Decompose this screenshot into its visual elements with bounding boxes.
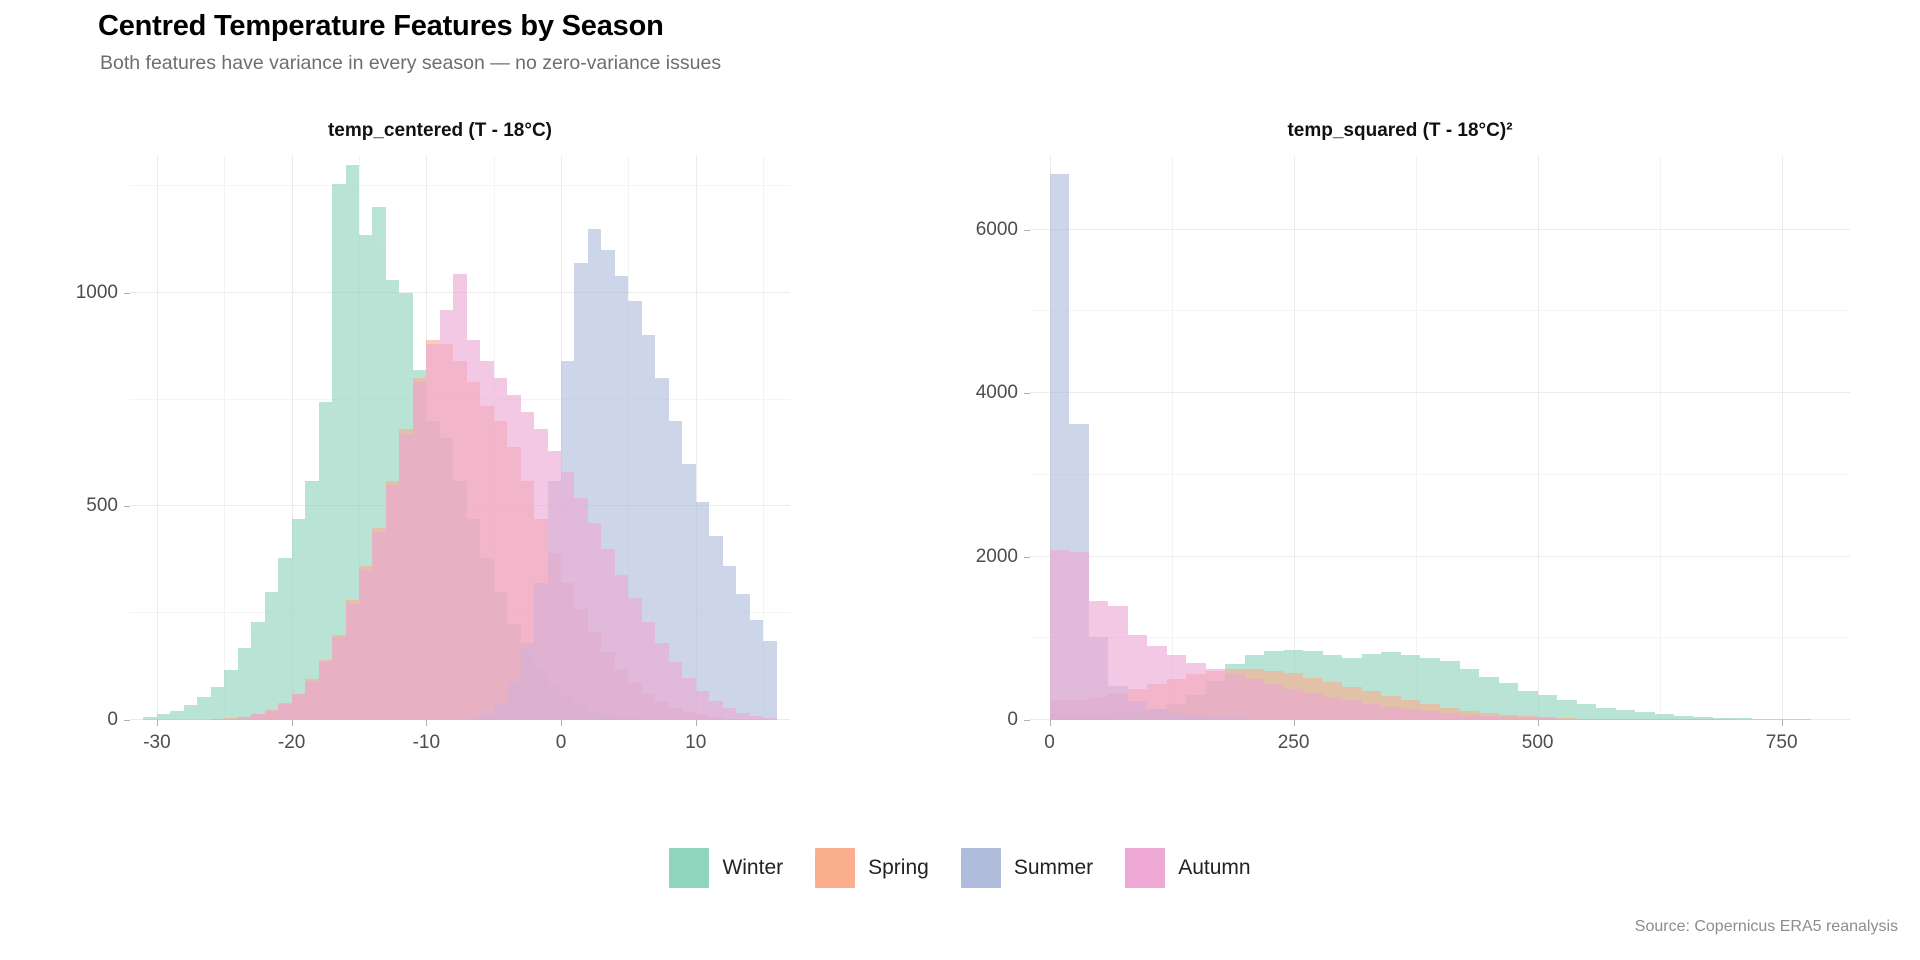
- histogram-bar: [709, 701, 722, 720]
- histogram-bar: [1518, 718, 1538, 720]
- histogram-bar: [1206, 669, 1226, 720]
- x-tick-label: 10: [685, 732, 706, 754]
- histogram-bar: [723, 708, 736, 720]
- histogram-bar: [238, 717, 251, 720]
- histogram-bar: [1284, 689, 1304, 720]
- legend-item-winter[interactable]: Winter: [669, 848, 783, 888]
- facet-title-left: temp_centered (T - 18°C): [60, 120, 820, 142]
- histogram-bar: [453, 274, 466, 721]
- x-tick-mark: [157, 720, 158, 726]
- histogram-bar: [1616, 719, 1636, 720]
- legend-item-autumn[interactable]: Autumn: [1125, 848, 1250, 888]
- x-tick-label: 250: [1278, 732, 1310, 754]
- histogram-bar: [588, 523, 601, 720]
- histogram-bar: [426, 344, 439, 720]
- histogram-bar: [467, 340, 480, 720]
- histogram-bar: [1342, 700, 1362, 720]
- y-tick-label: 4000: [976, 382, 1018, 404]
- histogram-bar: [682, 678, 695, 720]
- y-tick-label: 1000: [76, 282, 118, 304]
- plot-area-right: [1030, 156, 1850, 720]
- histogram-bar: [372, 532, 385, 720]
- legend-label: Autumn: [1178, 856, 1250, 880]
- legend-label: Winter: [722, 856, 783, 880]
- legend-swatch-summer: [961, 848, 1001, 888]
- histogram-bar: [655, 643, 668, 720]
- y-axis-title: Count: [0, 385, 3, 415]
- x-tick-label: -20: [278, 732, 305, 754]
- histogram-bar: [1577, 719, 1597, 720]
- x-tick-mark: [696, 720, 697, 726]
- histogram-bar: [521, 412, 534, 720]
- legend-swatch-autumn: [1125, 848, 1165, 888]
- x-tick-label: -10: [413, 732, 440, 754]
- histogram-bar: [1655, 719, 1675, 720]
- y-tick-label: 0: [107, 709, 118, 731]
- histogram-bar: [251, 714, 264, 720]
- histogram-bar: [1050, 550, 1070, 720]
- legend-swatch-spring: [815, 848, 855, 888]
- histogram-bar: [1694, 719, 1714, 720]
- histogram-bar: [1538, 718, 1558, 720]
- histogram-bar: [1460, 715, 1480, 720]
- y-tick-label: 0: [1007, 709, 1018, 731]
- histogram-bar: [615, 575, 628, 720]
- histogram-bar: [1225, 674, 1245, 720]
- facet-title-right: temp_squared (T - 18°C)²: [900, 120, 1900, 142]
- histogram-bar: [1557, 719, 1577, 720]
- plot-area-left: [130, 156, 790, 720]
- y-tick-label: 500: [86, 495, 118, 517]
- histogram-bar: [1167, 655, 1187, 720]
- legend-label: Summer: [1014, 856, 1093, 880]
- x-tick-label: 0: [1044, 732, 1055, 754]
- histogram-bar: [696, 691, 709, 720]
- histogram-bar: [386, 485, 399, 720]
- histogram-bar: [1635, 719, 1655, 720]
- y-tick-label: 2000: [976, 546, 1018, 568]
- histogram-bar: [332, 637, 345, 720]
- histogram-series-autumn: [1030, 156, 1850, 720]
- histogram-bar: [440, 310, 453, 720]
- histogram-series-autumn: [130, 156, 790, 720]
- histogram-bar: [1596, 719, 1616, 720]
- histogram-bar: [1069, 552, 1089, 720]
- histogram-bar: [642, 622, 655, 720]
- histogram-bar: [1147, 646, 1167, 720]
- histogram-bar: [1499, 717, 1519, 720]
- chart-root: Centred Temperature Features by Season B…: [0, 0, 1920, 960]
- x-tick-label: 500: [1522, 732, 1554, 754]
- x-tick-mark: [561, 720, 562, 726]
- histogram-bar: [1089, 601, 1109, 720]
- histogram-bar: [736, 713, 749, 720]
- histogram-bar: [292, 694, 305, 720]
- histogram-bar: [1108, 606, 1128, 720]
- facet-panel-temp-squared: temp_squared (T - 18°C)² 025050075002000…: [900, 120, 1900, 790]
- histogram-bar: [1186, 663, 1206, 720]
- histogram-bar: [1381, 707, 1401, 720]
- y-tick-mark: [124, 720, 130, 721]
- histogram-bar: [1245, 679, 1265, 720]
- histogram-bar: [1420, 711, 1440, 720]
- x-tick-label: 750: [1766, 732, 1798, 754]
- histogram-bar: [1674, 719, 1694, 720]
- y-tick-mark: [1024, 230, 1030, 231]
- y-tick-mark: [1024, 557, 1030, 558]
- y-tick-mark: [1024, 720, 1030, 721]
- histogram-bar: [346, 604, 359, 720]
- histogram-bar: [278, 704, 291, 720]
- histogram-bar: [574, 498, 587, 720]
- histogram-bar: [1303, 693, 1323, 720]
- histogram-bar: [211, 719, 224, 720]
- histogram-bar: [399, 434, 412, 720]
- y-tick-label: 6000: [976, 219, 1018, 241]
- histogram-bar: [750, 716, 763, 720]
- histogram-bar: [1323, 697, 1343, 720]
- histogram-bar: [413, 382, 426, 720]
- legend-item-summer[interactable]: Summer: [961, 848, 1093, 888]
- histogram-bar: [628, 598, 641, 720]
- x-tick-mark: [1538, 720, 1539, 726]
- histogram-bar: [359, 570, 372, 720]
- source-caption: Source: Copernicus ERA5 reanalysis: [1635, 918, 1898, 936]
- x-tick-mark: [426, 720, 427, 726]
- histogram-bar: [1401, 709, 1421, 720]
- histogram-bar: [319, 662, 332, 720]
- legend: WinterSpringSummerAutumn: [0, 848, 1920, 888]
- histogram-bar: [669, 662, 682, 720]
- histogram-bar: [1264, 684, 1284, 720]
- histogram-bar: [1362, 704, 1382, 720]
- histogram-bar: [305, 681, 318, 720]
- histogram-bar: [1479, 716, 1499, 720]
- x-tick-mark: [1294, 720, 1295, 726]
- histogram-bar: [480, 361, 493, 720]
- histogram-bar: [494, 378, 507, 720]
- x-tick-mark: [292, 720, 293, 726]
- histogram-bar: [224, 719, 237, 720]
- x-tick-mark: [1782, 720, 1783, 726]
- histogram-bar: [601, 549, 614, 720]
- histogram-bar: [507, 395, 520, 720]
- y-tick-mark: [124, 506, 130, 507]
- x-tick-label: -30: [143, 732, 170, 754]
- histogram-bar: [763, 718, 776, 720]
- legend-item-spring[interactable]: Spring: [815, 848, 929, 888]
- histogram-bar: [1440, 713, 1460, 720]
- facet-panel-temp-centered: temp_centered (T - 18°C) -30-20-10010050…: [60, 120, 820, 790]
- x-tick-mark: [1050, 720, 1051, 726]
- legend-label: Spring: [868, 856, 929, 880]
- page-title: Centred Temperature Features by Season: [98, 10, 664, 43]
- histogram-bar: [1128, 635, 1148, 720]
- histogram-bar: [265, 711, 278, 720]
- histogram-bar: [534, 429, 547, 720]
- x-tick-label: 0: [556, 732, 567, 754]
- y-tick-mark: [124, 293, 130, 294]
- legend-swatch-winter: [669, 848, 709, 888]
- histogram-bar: [561, 472, 574, 720]
- histogram-bar: [548, 451, 561, 720]
- page-subtitle: Both features have variance in every sea…: [100, 52, 721, 75]
- y-tick-mark: [1024, 393, 1030, 394]
